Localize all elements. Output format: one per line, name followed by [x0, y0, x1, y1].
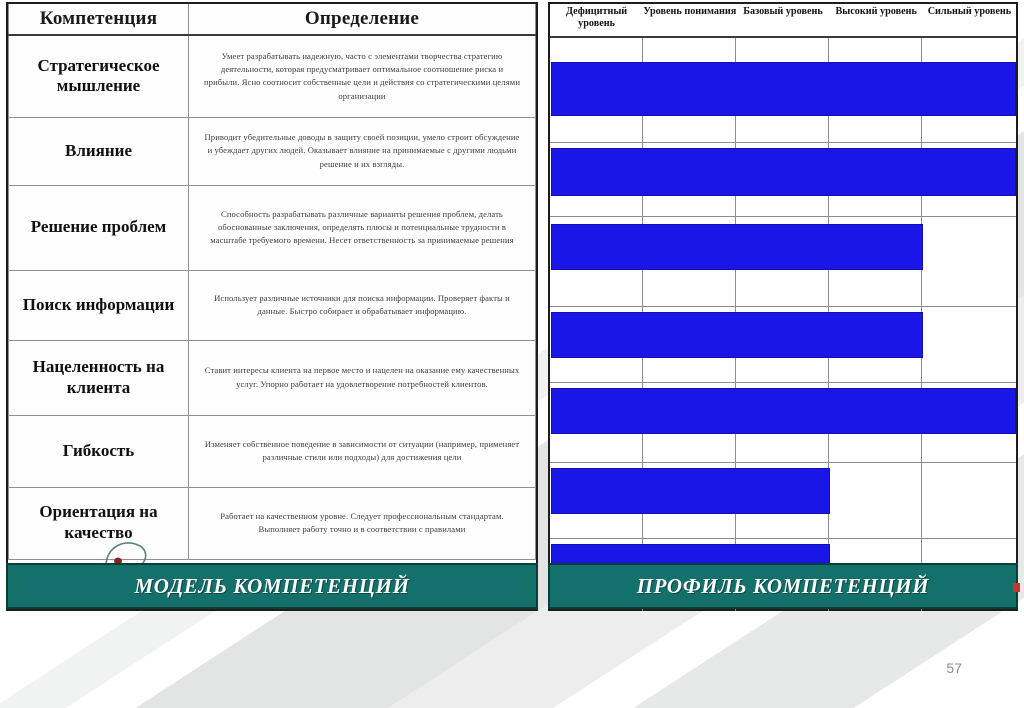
- table-row: Ориентация на качество Работает на качес…: [9, 487, 536, 559]
- level-header-high: Высокий уровень: [830, 4, 923, 36]
- competency-definition: Изменяет собственное поведение в зависим…: [189, 415, 536, 487]
- competency-model-table: Компетенция Определение Стратегическое м…: [8, 4, 536, 560]
- profile-bar: [551, 312, 923, 358]
- level-header-understanding: Уровень понимания: [643, 4, 736, 36]
- competency-model-panel: Компетенция Определение Стратегическое м…: [6, 2, 538, 611]
- level-header-deficit: Дефицитный уровень: [550, 4, 643, 36]
- grid-line-horizontal: [550, 538, 1016, 539]
- profile-bar: [551, 62, 1016, 116]
- table-row: Стратегическое мышление Умеет разрабатыв…: [9, 35, 536, 117]
- competency-name: Нацеленность на клиента: [9, 340, 189, 415]
- grid-line-horizontal: [550, 142, 1016, 143]
- grid-line-horizontal: [550, 306, 1016, 307]
- column-header-competency: Компетенция: [9, 4, 189, 35]
- competency-name: Стратегическое мышление: [9, 35, 189, 117]
- page-number: 57: [946, 660, 962, 676]
- profile-bar: [551, 388, 1016, 434]
- competency-name: Ориентация на качество: [9, 487, 189, 559]
- competency-name: Влияние: [9, 117, 189, 185]
- competency-definition: Использует различные источники для поиск…: [189, 270, 536, 340]
- competency-name: Поиск информации: [9, 270, 189, 340]
- competency-name: Гибкость: [9, 415, 189, 487]
- banner-competency-profile: ПРОФИЛЬ КОМПЕТЕНЦИЙ: [548, 563, 1018, 609]
- competency-name: Решение проблем: [9, 185, 189, 270]
- level-header-basic: Базовый уровень: [736, 4, 829, 36]
- red-marker-tick: [1013, 583, 1020, 592]
- grid-line-horizontal: [550, 382, 1016, 383]
- profile-level-header: Дефицитный уровень Уровень понимания Баз…: [550, 4, 1016, 38]
- profile-bar-grid: [550, 38, 1016, 611]
- grid-line-horizontal: [550, 216, 1016, 217]
- column-header-competency-label: Компетенция: [13, 8, 184, 30]
- competency-definition: Умеет разрабатывать надежную, часто с эл…: [189, 35, 536, 117]
- profile-bar: [551, 468, 830, 514]
- table-row: Нацеленность на клиента Ставит интересы …: [9, 340, 536, 415]
- grid-line-horizontal: [550, 462, 1016, 463]
- column-header-definition: Определение: [189, 4, 536, 35]
- competency-definition: Приводит убедительные доводы в защиту св…: [189, 117, 536, 185]
- banner-competency-model-label: МОДЕЛЬ КОМПЕТЕНЦИЙ: [134, 574, 409, 599]
- competency-board: Компетенция Определение Стратегическое м…: [0, 0, 1024, 615]
- banner-competency-profile-label: ПРОФИЛЬ КОМПЕТЕНЦИЙ: [637, 574, 929, 599]
- competency-definition: Способность разрабатывать различные вари…: [189, 185, 536, 270]
- competency-definition: Работает на качественном уровне. Следует…: [189, 487, 536, 559]
- table-row: Влияние Приводит убедительные доводы в з…: [9, 117, 536, 185]
- competency-definition: Ставит интересы клиента на первое место …: [189, 340, 536, 415]
- slide-canvas: Компетенция Определение Стратегическое м…: [0, 0, 1024, 708]
- banner-competency-model: МОДЕЛЬ КОМПЕТЕНЦИЙ: [6, 563, 538, 609]
- level-header-strong: Сильный уровень: [923, 4, 1016, 36]
- competency-profile-panel: Дефицитный уровень Уровень понимания Баз…: [548, 2, 1018, 611]
- profile-bar: [551, 224, 923, 270]
- column-header-definition-label: Определение: [193, 8, 531, 30]
- profile-bar: [551, 148, 1016, 196]
- table-row: Поиск информации Использует различные ис…: [9, 270, 536, 340]
- table-row: Гибкость Изменяет собственное поведение …: [9, 415, 536, 487]
- table-row: Решение проблем Способность разрабатыват…: [9, 185, 536, 270]
- table-header-row: Компетенция Определение: [9, 4, 536, 35]
